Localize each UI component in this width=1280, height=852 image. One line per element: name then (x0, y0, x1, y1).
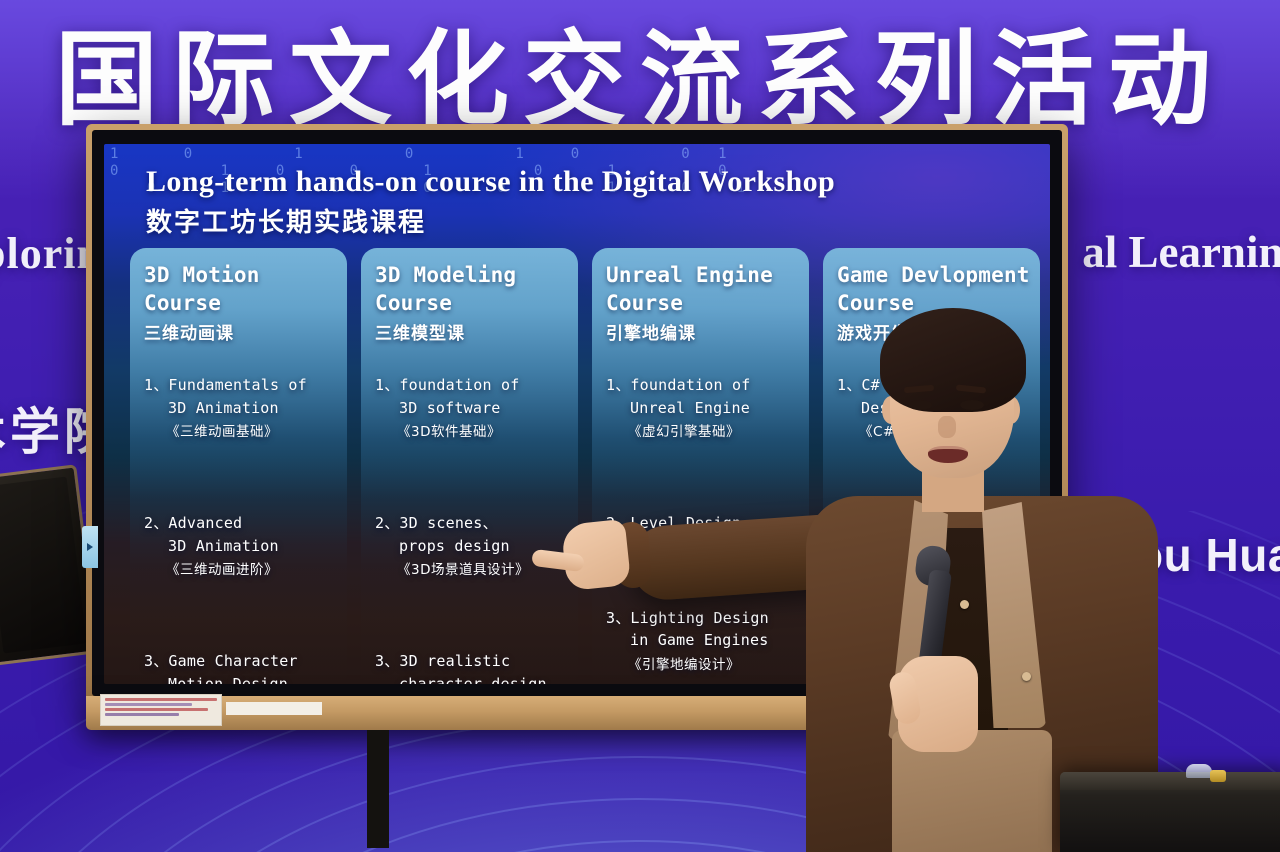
laptop-screen (0, 477, 87, 654)
display-spec-label-secondary (226, 702, 322, 715)
course-item-line1: 1、foundation of (375, 374, 568, 397)
course-item-line2: 3D Animation (144, 535, 337, 558)
presenter-eye (908, 400, 932, 410)
course-column: 3D ModelingCourse三维模型课1、foundation of3D … (361, 248, 578, 680)
play-arrow-icon (87, 543, 93, 551)
display-stand (367, 730, 389, 848)
course-item-line2: 3D Animation (144, 397, 337, 420)
presenter-hair (880, 308, 1026, 412)
course-item-list: 1、Fundamentals of3D Animation《三维动画基础》2、A… (144, 374, 337, 684)
presentation-photo: 国际文化交流系列活动 xploring 术学院 t So Co al Learn… (0, 0, 1280, 852)
course-title-cn: 三维动画课 (144, 319, 337, 344)
presenter-mouth (928, 446, 968, 463)
podium-gold-object (1210, 770, 1226, 782)
course-title-cn: 三维模型课 (375, 319, 568, 344)
jacket-button (1022, 672, 1031, 681)
course-item-line1: 3、3D realistic (375, 650, 568, 673)
course-item: 3、3D realisticcharacter design《3D写实角色设计》 (375, 650, 568, 684)
course-item: 2、3D scenes、props design《3D场景道具设计》 (375, 512, 568, 578)
course-item-line1: 2、3D scenes、 (375, 512, 568, 535)
display-spec-label (100, 694, 222, 726)
course-item-line2: Motion Design (144, 673, 337, 684)
course-item-line1: 2、Advanced (144, 512, 337, 535)
course-item: 1、Fundamentals of3D Animation《三维动画基础》 (144, 374, 337, 440)
course-title-en-line2: Course (375, 290, 568, 318)
course-title-en: Game Devlopment (837, 262, 1030, 290)
jacket-button (960, 600, 969, 609)
course-card[interactable]: 3D MotionCourse三维动画课1、Fundamentals of3D … (130, 248, 347, 680)
podium-table (1060, 772, 1280, 852)
slide-title-cn: 数字工坊长期实践课程 (146, 202, 1032, 239)
course-title-en-line2: Course (144, 290, 337, 318)
course-title-en: 3D Modeling (375, 262, 568, 290)
course-item-line2: character design (375, 673, 568, 684)
backdrop-text-learning: al Learning (1082, 226, 1280, 278)
course-title-en: Unreal Engine (606, 262, 799, 290)
slide-title-en: Long-term hands-on course in the Digital… (146, 166, 1032, 198)
course-item-list: 1、foundation of3D software《3D软件基础》2、3D s… (375, 374, 568, 684)
course-item-line1: 1、Fundamentals of (144, 374, 337, 397)
course-card[interactable]: 3D ModelingCourse三维模型课1、foundation of3D … (361, 248, 578, 680)
course-item: 3、Game CharacterMotion Design《游戏角色动作设计》 (144, 650, 337, 684)
course-item-cn: 《3D软件基础》 (375, 420, 568, 440)
course-item-line2: 3D software (375, 397, 568, 420)
course-title-en: 3D Motion (144, 262, 337, 290)
course-item: 2、Advanced3D Animation《三维动画进阶》 (144, 512, 337, 578)
venue-banner-title: 国际文化交流系列活动 (0, 26, 1280, 135)
presenter-eye (960, 400, 984, 410)
podium-object (1186, 764, 1212, 778)
course-item-line1: 3、Game Character (144, 650, 337, 673)
course-column: 3D MotionCourse三维动画课1、Fundamentals of3D … (130, 248, 347, 680)
slide-title: Long-term hands-on course in the Digital… (146, 166, 1032, 239)
display-side-tab-button[interactable] (82, 526, 98, 568)
course-item: 1、foundation of3D software《3D软件基础》 (375, 374, 568, 440)
course-item-cn: 《三维动画基础》 (144, 420, 337, 440)
presenter-nose (938, 416, 956, 438)
course-item-cn: 《三维动画进阶》 (144, 558, 337, 578)
presenter-person (770, 300, 1170, 852)
podium-table-top (1060, 772, 1280, 790)
